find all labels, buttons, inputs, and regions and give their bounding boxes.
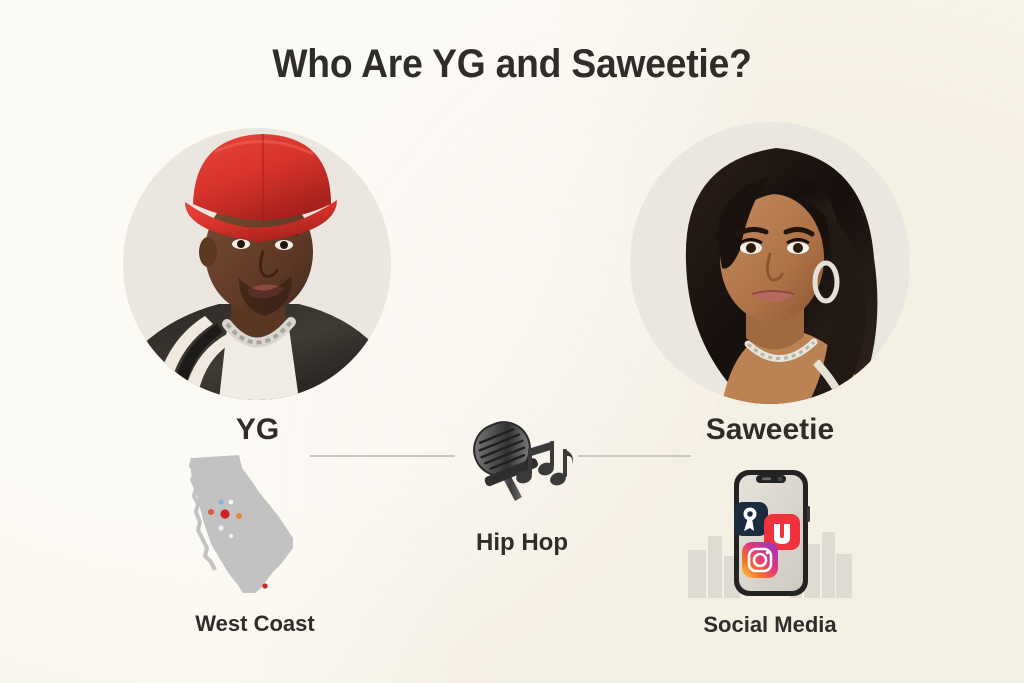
smartphone-social-apps-icon xyxy=(686,458,854,598)
person-name-saweetie: Saweetie xyxy=(660,413,880,447)
page-title: Who Are YG and Saweetie? xyxy=(36,42,988,87)
attribute-label-west-coast: West Coast xyxy=(130,611,380,637)
connector-line-right xyxy=(578,455,691,457)
california-map-icon xyxy=(181,452,303,595)
portrait-yg xyxy=(123,128,391,400)
person-name-yg: YG xyxy=(155,413,360,447)
attribute-label-social-media: Social Media xyxy=(645,612,895,638)
microphone-music-notes-icon xyxy=(462,415,582,503)
portrait-saweetie xyxy=(630,122,910,404)
infographic-canvas: Who Are YG and Saweetie? xyxy=(0,0,1024,683)
connector-line-left xyxy=(310,455,455,457)
connection-label-hip-hop: Hip Hop xyxy=(412,529,632,557)
